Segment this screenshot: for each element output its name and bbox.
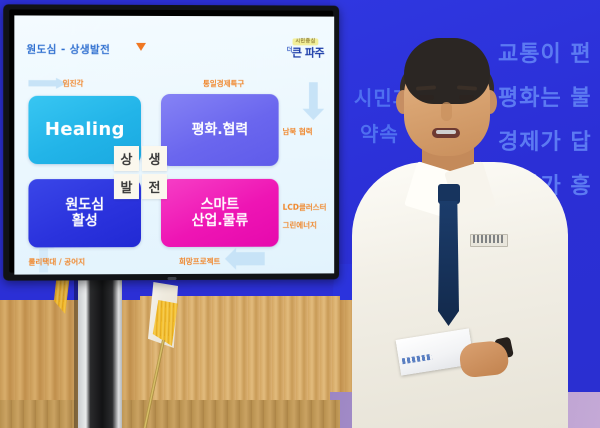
name-badge-text xyxy=(473,235,503,243)
center-tile-3: 발 xyxy=(114,174,139,199)
caption-lcd-cluster: LCD클러스터 xyxy=(283,202,327,213)
quadrant-box-smart-line2: 산업.물류 xyxy=(192,213,249,229)
quadrant-box-smart-label: 스마트 산업.물류 xyxy=(192,197,249,229)
logo-main-text: 큰 파주 xyxy=(292,46,324,59)
arrow-left-icon-bottom-right xyxy=(225,248,265,270)
hand xyxy=(458,340,509,379)
quadrant-box-downtown-label: 원도심 활성 xyxy=(65,197,104,229)
scene: 교통이 편 평화는 불 경제가 답 문화가 흥 은 가 시민과 약속 xyxy=(0,0,600,428)
caption-unification-zone: 통일경제특구 xyxy=(203,78,244,89)
power-led-icon xyxy=(168,277,177,280)
person-speaker xyxy=(352,38,568,428)
caption-imjingak: 임진각 xyxy=(63,78,84,89)
quadrant-box-downtown-line2: 활성 xyxy=(72,213,98,229)
teeth xyxy=(436,130,456,134)
necktie xyxy=(438,201,459,326)
caption-green-energy: 그린에너지 xyxy=(283,220,317,231)
eye-left xyxy=(419,95,434,100)
slide-title: 원도심 - 상생발전 xyxy=(26,42,110,57)
caption-bottom-left: 롤리택대 / 공어지 xyxy=(28,256,85,267)
eye-right xyxy=(459,95,474,100)
quadrant-box-healing-label: Healing xyxy=(45,120,125,141)
arrow-right-icon-top-left xyxy=(28,78,66,89)
hair xyxy=(404,38,490,104)
quadrant-box-downtown-line1: 원도심 xyxy=(65,197,104,213)
caption-inter-korean: 남북 협력 xyxy=(283,126,313,137)
display-monitor: 원도심 - 상생발전 시민중심 더큰 파주 임진각 통일경제특구 남북 협력 L… xyxy=(3,4,339,280)
quadrant-box-peace-label: 평화.협력 xyxy=(192,122,249,138)
presentation-slide: 원도심 - 상생발전 시민중심 더큰 파주 임진각 통일경제특구 남북 협력 L… xyxy=(14,15,334,274)
center-tile-2: 생 xyxy=(142,146,167,171)
arrow-down-icon-top-right xyxy=(302,82,324,120)
floor-left xyxy=(0,400,340,428)
caption-hope-project: 희망프로젝트 xyxy=(179,256,220,267)
quadrant-box-smart: 스마트 산업.물류 xyxy=(161,179,279,247)
nose xyxy=(441,102,452,121)
center-tile-4: 전 xyxy=(142,174,167,199)
paju-city-logo: 시민중심 더큰 파주 xyxy=(287,29,324,58)
center-tile-1: 상 xyxy=(114,146,139,171)
caret-down-icon xyxy=(136,43,146,51)
logo-wordmark: 더큰 파주 xyxy=(287,47,324,58)
monitor-stand xyxy=(78,278,122,428)
quadrant-box-smart-line1: 스마트 xyxy=(201,197,240,213)
quadrant-box-peace: 평화.협력 xyxy=(161,94,279,166)
logo-tagline: 시민중심 xyxy=(292,38,318,45)
